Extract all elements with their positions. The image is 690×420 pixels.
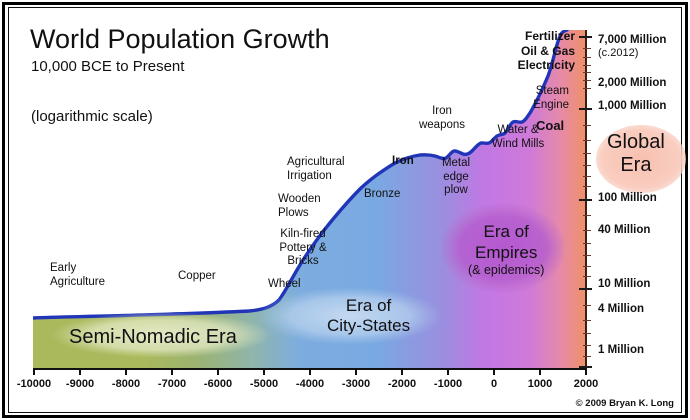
y-tick-minor xyxy=(583,356,591,357)
y-tick-minor xyxy=(583,165,591,166)
annotation-steam-engine: Steam Engine xyxy=(513,85,569,112)
annotation-kiln-fired-pottery-bricks: Kiln-fired Pottery & Bricks xyxy=(279,228,326,269)
annotation-iron: Iron xyxy=(392,155,414,169)
era-label-city-states: Era of City-States xyxy=(327,296,410,337)
x-axis-label: -7000 xyxy=(158,378,186,390)
x-tick xyxy=(79,368,81,375)
x-tick xyxy=(309,368,311,375)
y-tick-major xyxy=(579,199,592,201)
x-tick xyxy=(125,368,127,375)
x-axis-label: -3000 xyxy=(342,378,370,390)
annotation-wheel: Wheel xyxy=(268,278,301,292)
annotation-early-agriculture: Early Agriculture xyxy=(50,262,105,289)
y-tick-major xyxy=(579,36,592,38)
y-tick-minor xyxy=(583,140,591,141)
y-axis-label-40m: 40 Million xyxy=(598,224,650,237)
era-label-semi-nomadic: Semi-Nomadic Era xyxy=(69,326,237,348)
y-tick-minor xyxy=(583,65,591,66)
annotation-wooden-plows: Wooden Plows xyxy=(278,193,321,220)
y-axis-label-1000m: 1,000 Million xyxy=(598,100,666,113)
y-tick-minor xyxy=(583,88,591,89)
x-axis-label: -6000 xyxy=(204,378,232,390)
era-label-line: Era xyxy=(607,154,665,177)
annotation-line: Fertilizer xyxy=(495,29,575,44)
annotation-line: Iron xyxy=(419,105,465,119)
chart-frame: World Population Growth 10,000 BCE to Pr… xyxy=(0,0,690,420)
y-tick-minor xyxy=(583,57,591,58)
annotation-line: Irrigation xyxy=(287,170,345,184)
x-tick xyxy=(355,368,357,375)
annotation-line: weapons xyxy=(419,119,465,133)
annotation-line: Metal xyxy=(442,157,470,171)
annotation-line: Plows xyxy=(278,207,321,221)
y-tick-major xyxy=(579,108,592,110)
annotation-bronze: Bronze xyxy=(364,188,400,202)
y-axis-label-4m: 4 Million xyxy=(598,303,644,316)
x-axis-label: 1000 xyxy=(528,378,552,390)
y-tick-minor xyxy=(583,276,591,277)
x-tick xyxy=(447,368,449,375)
annotation-line: Agricultural xyxy=(287,156,345,170)
x-tick xyxy=(171,368,173,375)
y-tick-minor xyxy=(583,215,591,216)
era-label-line: Era of xyxy=(327,296,410,316)
annotation-line: edge xyxy=(442,171,470,185)
y-tick-minor xyxy=(583,80,591,81)
x-axis-label: -5000 xyxy=(250,378,278,390)
x-tick xyxy=(539,368,541,375)
era-label-empires: Era of Empires (& epidemics) xyxy=(468,222,544,279)
y-tick-minor xyxy=(583,333,591,334)
annotation-line: Agriculture xyxy=(50,276,105,290)
y-tick-minor xyxy=(583,305,591,306)
annotation-fertilizer-oil-gas-electricity: Fertilizer Oil & Gas Electricity xyxy=(495,29,575,73)
y-axis-label-10m: 10 Million xyxy=(598,278,650,291)
y-tick-major xyxy=(579,288,592,290)
x-axis-label: 0 xyxy=(491,378,497,390)
annotation-line: Pottery & xyxy=(279,242,326,256)
y-tick-minor xyxy=(583,186,591,187)
x-tick xyxy=(401,368,403,375)
x-axis-label: 2000 xyxy=(574,378,598,390)
x-axis-label: -9000 xyxy=(66,378,94,390)
x-axis-label: -2000 xyxy=(388,378,416,390)
y-tick-minor xyxy=(583,72,591,73)
annotation-line: Engine xyxy=(513,99,569,113)
era-label-note: (& epidemics) xyxy=(468,263,544,278)
y-axis-label-2000m: 2,000 Million xyxy=(598,77,666,90)
annotation-agricultural-irrigation: Agricultural Irrigation xyxy=(287,156,345,183)
y-tick-minor xyxy=(583,266,591,267)
y-tick-minor xyxy=(583,176,591,177)
annotation-coal: Coal xyxy=(536,119,564,133)
annotation-line: Oil & Gas xyxy=(495,44,575,59)
era-label-global: Global Era xyxy=(607,131,665,177)
era-label-line: Empires xyxy=(468,243,544,264)
x-tick xyxy=(33,368,35,375)
y-tick-minor xyxy=(583,153,591,154)
era-label-line: Global xyxy=(607,131,665,154)
y-axis-label-text: 7,000 Million xyxy=(598,34,666,46)
y-tick-minor xyxy=(583,125,591,126)
annotation-line: Bricks xyxy=(279,255,326,269)
y-tick-minor xyxy=(583,243,591,244)
y-tick-minor xyxy=(583,230,591,231)
y-tick-minor xyxy=(583,255,591,256)
x-tick xyxy=(585,368,587,375)
annotation-iron-weapons: Iron weapons xyxy=(419,105,465,132)
annotation-line: Steam xyxy=(513,85,569,99)
annotation-line: Wooden xyxy=(278,193,321,207)
annotation-line: Wind Mills xyxy=(492,138,544,152)
y-axis-label-100m: 100 Million xyxy=(598,192,657,205)
x-tick xyxy=(217,368,219,375)
y-tick-minor xyxy=(583,320,591,321)
y-tick-minor xyxy=(583,48,591,49)
x-axis-label: -8000 xyxy=(112,378,140,390)
x-tick xyxy=(263,368,265,375)
era-label-line: Era of xyxy=(468,222,544,243)
y-axis-label-1m: 1 Million xyxy=(598,344,644,357)
annotation-metal-edge-plow: Metal edge plow xyxy=(442,157,470,198)
x-tick xyxy=(493,368,495,375)
annotation-line: Kiln-fired xyxy=(279,228,326,242)
annotation-line: plow xyxy=(442,184,470,198)
annotation-copper: Copper xyxy=(178,270,216,284)
copyright-notice: © 2009 Bryan K. Long xyxy=(576,398,674,409)
y-axis-label-sublabel: (c.2012) xyxy=(598,47,666,60)
annotation-line: Electricity xyxy=(495,58,575,73)
x-axis-label: -1000 xyxy=(434,378,462,390)
y-tick-minor xyxy=(583,345,591,346)
era-label-line: City-States xyxy=(327,316,410,336)
annotation-line: Early xyxy=(50,262,105,276)
x-axis-label: -4000 xyxy=(296,378,324,390)
y-axis-label-7000m: 7,000 Million (c.2012) xyxy=(598,34,666,60)
x-axis-label: -10000 xyxy=(17,378,51,390)
